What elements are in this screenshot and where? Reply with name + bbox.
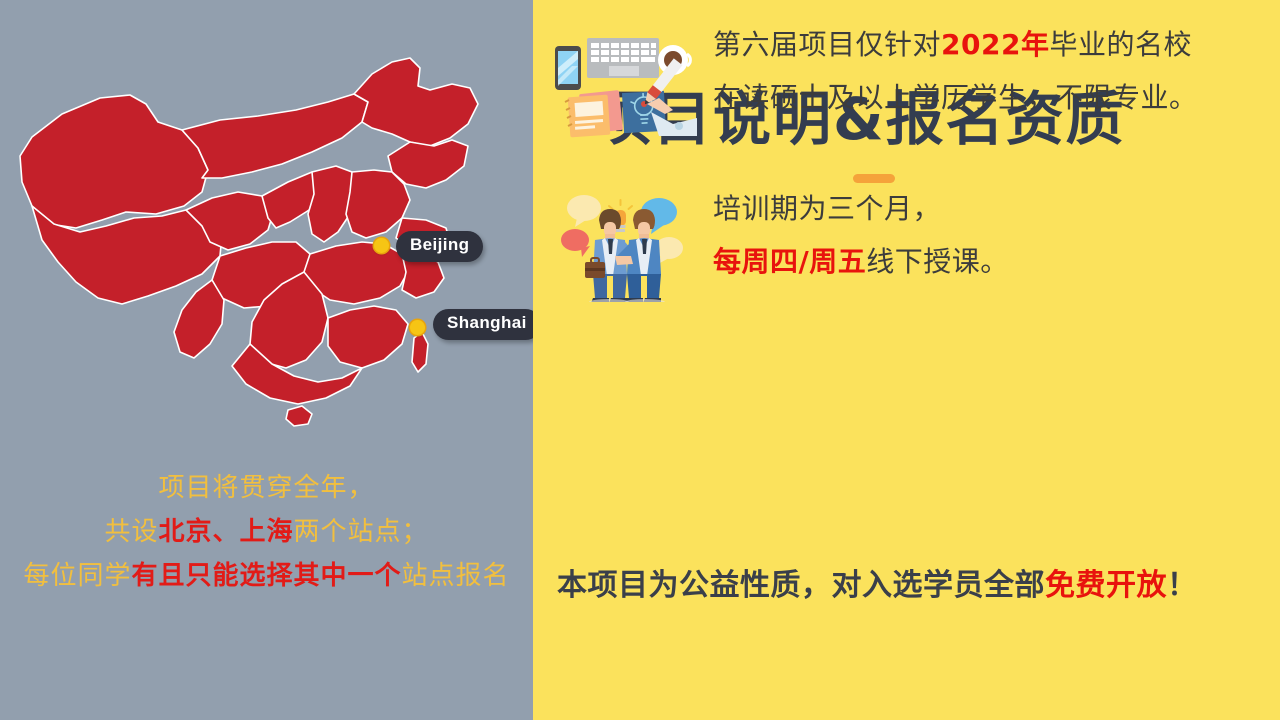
footer-note: 本项目为公益性质，对入选学员全部免费开放！ <box>557 568 1198 604</box>
desk-workspace-icon <box>547 18 703 138</box>
bullet-1-line-1: 第六届项目仅针对2022年毕业的名校 <box>713 18 1198 71</box>
handshake-businessmen-icon <box>547 182 703 302</box>
text-seg: 第六届项目仅针对 <box>713 28 941 61</box>
bullet-item-schedule: 培训期为三个月， 每周四/周五线下授课。 <box>547 182 1009 302</box>
footer-seg: 本项目为公益性质，对入选学员全部 <box>557 568 1045 603</box>
left-caption: 项目将贯穿全年， 共设北京、上海两个站点； 每位同学有且只能选择其中一个站点报名 <box>0 466 533 598</box>
text-seg-highlight: 每周四/周五 <box>713 245 866 278</box>
caption-seg-highlight: 北京、上海 <box>158 517 293 547</box>
china-map: Beijing Shanghai <box>6 42 526 432</box>
bullet-item-eligibility: 第六届项目仅针对2022年毕业的名校 在读硕士及以上学历学生，不限专业。 <box>547 18 1198 138</box>
left-caption-line-3: 每位同学有且只能选择其中一个站点报名 <box>0 554 533 598</box>
bullet-2-line-1: 培训期为三个月， <box>713 182 1009 235</box>
caption-seg: 共设 <box>104 517 158 547</box>
left-map-panel: Beijing Shanghai 项目将贯穿全年， 共设北京、上海两个站点； 每… <box>0 0 533 720</box>
caption-seg: 站点报名 <box>402 561 510 591</box>
map-pin-shanghai[interactable] <box>410 320 425 335</box>
footer-seg-highlight: 免费开放 <box>1045 568 1167 603</box>
text-seg: 培训期为三个月， <box>713 192 941 225</box>
text-seg: 线下授课。 <box>866 245 1009 278</box>
bullet-2-line-2: 每周四/周五线下授课。 <box>713 235 1009 288</box>
caption-seg-highlight: 有且只能选择其中一个 <box>131 561 401 591</box>
left-caption-line-2: 共设北京、上海两个站点； <box>0 510 533 554</box>
slide-root: Beijing Shanghai 项目将贯穿全年， 共设北京、上海两个站点； 每… <box>0 0 1280 720</box>
caption-seg: 两个站点； <box>294 517 429 547</box>
map-label-beijing[interactable]: Beijing <box>396 231 483 262</box>
left-caption-line-1: 项目将贯穿全年， <box>0 466 533 510</box>
bullet-1-text: 第六届项目仅针对2022年毕业的名校 在读硕士及以上学历学生，不限专业。 <box>713 18 1198 124</box>
text-seg-highlight: 2022年 <box>941 28 1049 61</box>
text-seg: 毕业的名校 <box>1049 28 1192 61</box>
right-content-panel: 项目说明&报名资质 <box>533 0 1280 720</box>
bullet-1-line-2: 在读硕士及以上学历学生，不限专业。 <box>713 71 1198 124</box>
map-label-shanghai[interactable]: Shanghai <box>433 309 533 340</box>
caption-seg: 每位同学 <box>23 561 131 591</box>
caption-seg: 项目将贯穿全年， <box>158 473 374 503</box>
footer-seg: ！ <box>1167 568 1198 603</box>
text-seg: 在读硕士及以上学历学生，不限专业。 <box>713 81 1198 114</box>
map-pin-beijing[interactable] <box>374 238 389 253</box>
bullet-2-text: 培训期为三个月， 每周四/周五线下授课。 <box>713 182 1009 288</box>
